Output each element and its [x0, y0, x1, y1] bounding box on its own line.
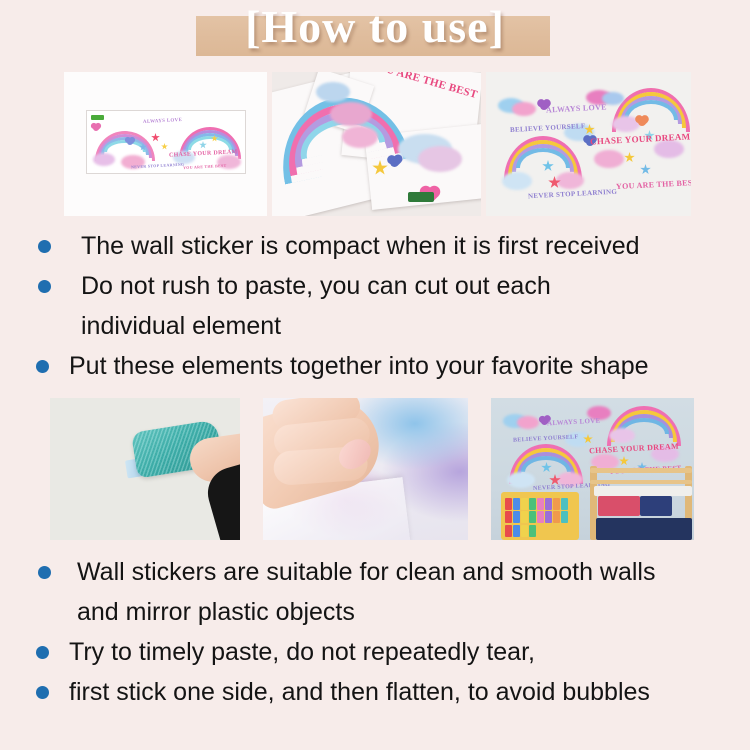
instruction-text: Wall stickers are suitable for clean and… — [77, 558, 655, 587]
sticker-phrase: ALWAYS LOVE — [546, 102, 607, 114]
book — [513, 511, 520, 523]
books — [505, 498, 575, 537]
book — [521, 511, 528, 523]
photo-packaged-sheet: ALWAYS LOVE CHASE YOUR DREAM NEVER STOP … — [64, 72, 267, 216]
book — [545, 498, 552, 510]
cloud-icon — [330, 102, 372, 126]
star-icon — [624, 152, 635, 163]
cloud-icon — [316, 82, 350, 102]
book — [521, 498, 528, 510]
cloud-icon — [342, 126, 378, 148]
cloud-icon — [517, 416, 539, 429]
bunk-bed — [590, 466, 694, 540]
sticker-phrase: YOU ARE THE BEST — [183, 163, 227, 170]
bullet-icon — [38, 240, 51, 253]
instruction-text: The wall sticker is compact when it is f… — [81, 232, 640, 261]
instruction-line: Put these elements together into your fa… — [0, 346, 750, 386]
sticker-sheet: ALWAYS LOVE CHASE YOUR DREAM NEVER STOP … — [86, 110, 246, 174]
instruction-text: Put these elements together into your fa… — [69, 352, 649, 381]
cloud-icon — [418, 146, 462, 172]
instruction-line: The wall sticker is compact when it is f… — [0, 226, 750, 266]
book — [561, 498, 568, 510]
star-icon — [151, 133, 160, 142]
mattress — [594, 486, 692, 496]
bullet-icon — [38, 566, 51, 579]
star-icon — [640, 164, 651, 175]
book — [521, 525, 528, 537]
book — [513, 525, 520, 537]
photo-wipe-wall — [50, 398, 240, 540]
instruction-text: and mirror plastic objects — [77, 598, 355, 627]
book — [529, 498, 536, 510]
photo-row-bottom: ALWAYS LOVE BELIEVE YOURSELF CHASE YOUR … — [50, 398, 694, 540]
cloud-icon — [594, 150, 624, 168]
cloud-icon — [609, 428, 635, 443]
book — [553, 511, 560, 523]
cloud-icon — [512, 102, 536, 116]
instruction-text: first stick one side, and then flatten, … — [69, 678, 650, 707]
page-title: [How to use] — [0, 0, 750, 56]
page-header: [How to use] — [0, 0, 750, 68]
bullet-icon — [36, 360, 49, 373]
instruction-text: Try to timely paste, do not repeatedly t… — [69, 638, 535, 667]
instruction-line-continuation: and mirror plastic objects — [0, 592, 750, 632]
bed-rail — [590, 480, 692, 484]
cloud-icon — [93, 153, 115, 166]
instruction-line: Try to timely paste, do not repeatedly t… — [0, 632, 750, 672]
cloud-icon — [502, 172, 532, 190]
photo-cut-elements: YOU ARE THE BEST — [272, 72, 481, 216]
photo-applied-wall: ALWAYS LOVE BELIEVE YOURSELF CHASE YOUR … — [486, 72, 691, 216]
cloud-icon — [556, 172, 584, 189]
instruction-line: Wall stickers are suitable for clean and… — [0, 552, 750, 592]
book — [529, 511, 536, 523]
instruction-text: Do not rush to paste, you can cut out ea… — [81, 272, 551, 301]
book — [537, 511, 544, 523]
sticker-phrase: NEVER STOP LEARNING — [528, 188, 617, 201]
cloud-icon — [507, 472, 535, 488]
instruction-line: first stick one side, and then flatten, … — [0, 672, 750, 712]
bed-rail — [590, 468, 692, 473]
bullet-icon — [36, 646, 49, 659]
brand-tag-icon — [91, 115, 104, 120]
sticker-phrase: YOU ARE THE BEST — [616, 178, 691, 191]
book — [505, 511, 512, 523]
bullet-icon — [38, 280, 51, 293]
book — [513, 498, 520, 510]
book — [553, 498, 560, 510]
heart-icon — [92, 124, 100, 132]
photo-row-top: ALWAYS LOVE CHASE YOUR DREAM NEVER STOP … — [64, 72, 691, 216]
book — [545, 511, 552, 523]
green-clip — [408, 192, 434, 202]
book — [505, 498, 512, 510]
bedding — [640, 496, 672, 516]
instruction-line: Do not rush to paste, you can cut out ea… — [0, 266, 750, 306]
instruction-text: individual element — [81, 312, 281, 341]
book — [505, 525, 512, 537]
photo-peel-film — [263, 398, 468, 540]
bedding — [596, 518, 692, 540]
sticker-phrase: ALWAYS LOVE — [143, 118, 182, 125]
star-icon — [161, 143, 168, 150]
instructions-bottom: Wall stickers are suitable for clean and… — [0, 552, 750, 712]
book-shelf — [501, 492, 579, 540]
photo-kids-room: ALWAYS LOVE BELIEVE YOURSELF CHASE YOUR … — [491, 398, 694, 540]
instruction-line-continuation: individual element — [0, 306, 750, 346]
bullet-icon — [36, 686, 49, 699]
book — [529, 525, 536, 537]
book — [561, 511, 568, 523]
bedding — [598, 496, 640, 516]
instructions-top: The wall sticker is compact when it is f… — [0, 226, 750, 386]
book — [537, 498, 544, 510]
